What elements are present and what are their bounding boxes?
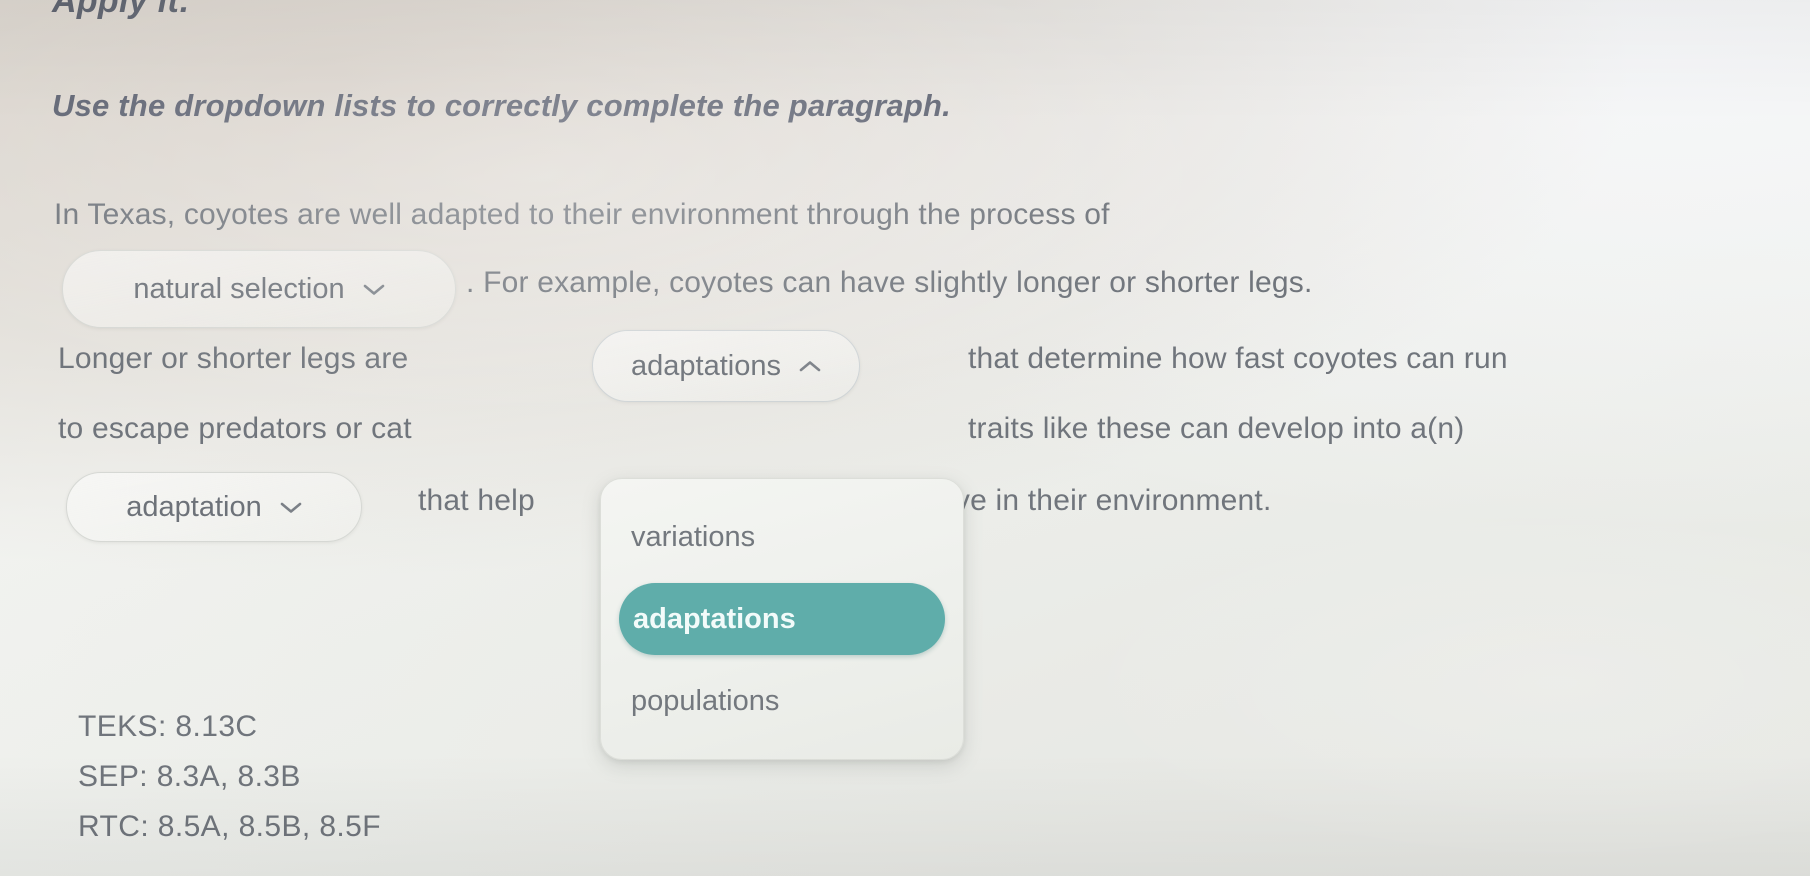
- standards-rtc: RTC: 8.5A, 8.5B, 8.5F: [78, 810, 381, 844]
- page-title: Apply it:: [52, 0, 191, 21]
- dropdown-adaptation-value: adaptation: [126, 491, 261, 524]
- lesson-content: Apply it: Use the dropdown lists to corr…: [0, 0, 1810, 876]
- standards-sep: SEP: 8.3A, 8.3B: [78, 760, 381, 794]
- dropdown-option-populations[interactable]: populations: [619, 665, 945, 737]
- dropdown-natural-selection-value: natural selection: [133, 273, 344, 306]
- paragraph-line-7: that help: [418, 484, 535, 518]
- instruction-text: Use the dropdown lists to correctly comp…: [52, 88, 951, 124]
- chevron-down-icon: [280, 501, 302, 514]
- dropdown-option-adaptations[interactable]: adaptations: [619, 583, 945, 655]
- dropdown-adaptations-value: adaptations: [631, 350, 781, 383]
- paragraph-line-8: ive in their environment.: [948, 484, 1272, 518]
- dropdown-option-variations[interactable]: variations: [619, 501, 945, 573]
- chevron-up-icon: [799, 360, 821, 373]
- standards-list: TEKS: 8.13C SEP: 8.3A, 8.3B RTC: 8.5A, 8…: [78, 710, 381, 844]
- dropdown-adaptations[interactable]: adaptations: [592, 330, 860, 402]
- standards-teks: TEKS: 8.13C: [78, 710, 381, 744]
- paragraph-line-1: In Texas, coyotes are well adapted to th…: [54, 198, 1110, 232]
- paragraph-line-6: traits like these can develop into a(n): [968, 412, 1464, 446]
- paragraph-line-4: that determine how fast coyotes can run: [968, 342, 1508, 376]
- paragraph-line-5: to escape predators or cat: [58, 412, 412, 446]
- dropdown-adaptation[interactable]: adaptation: [66, 472, 362, 542]
- chevron-down-icon: [363, 283, 385, 296]
- dropdown-natural-selection[interactable]: natural selection: [62, 250, 456, 328]
- page-background: Apply it: Use the dropdown lists to corr…: [0, 0, 1810, 876]
- paragraph-line-3: Longer or shorter legs are: [58, 342, 408, 376]
- paragraph-line-2: . For example, coyotes can have slightly…: [466, 266, 1313, 300]
- dropdown-adaptations-menu[interactable]: variations adaptations populations: [600, 478, 964, 760]
